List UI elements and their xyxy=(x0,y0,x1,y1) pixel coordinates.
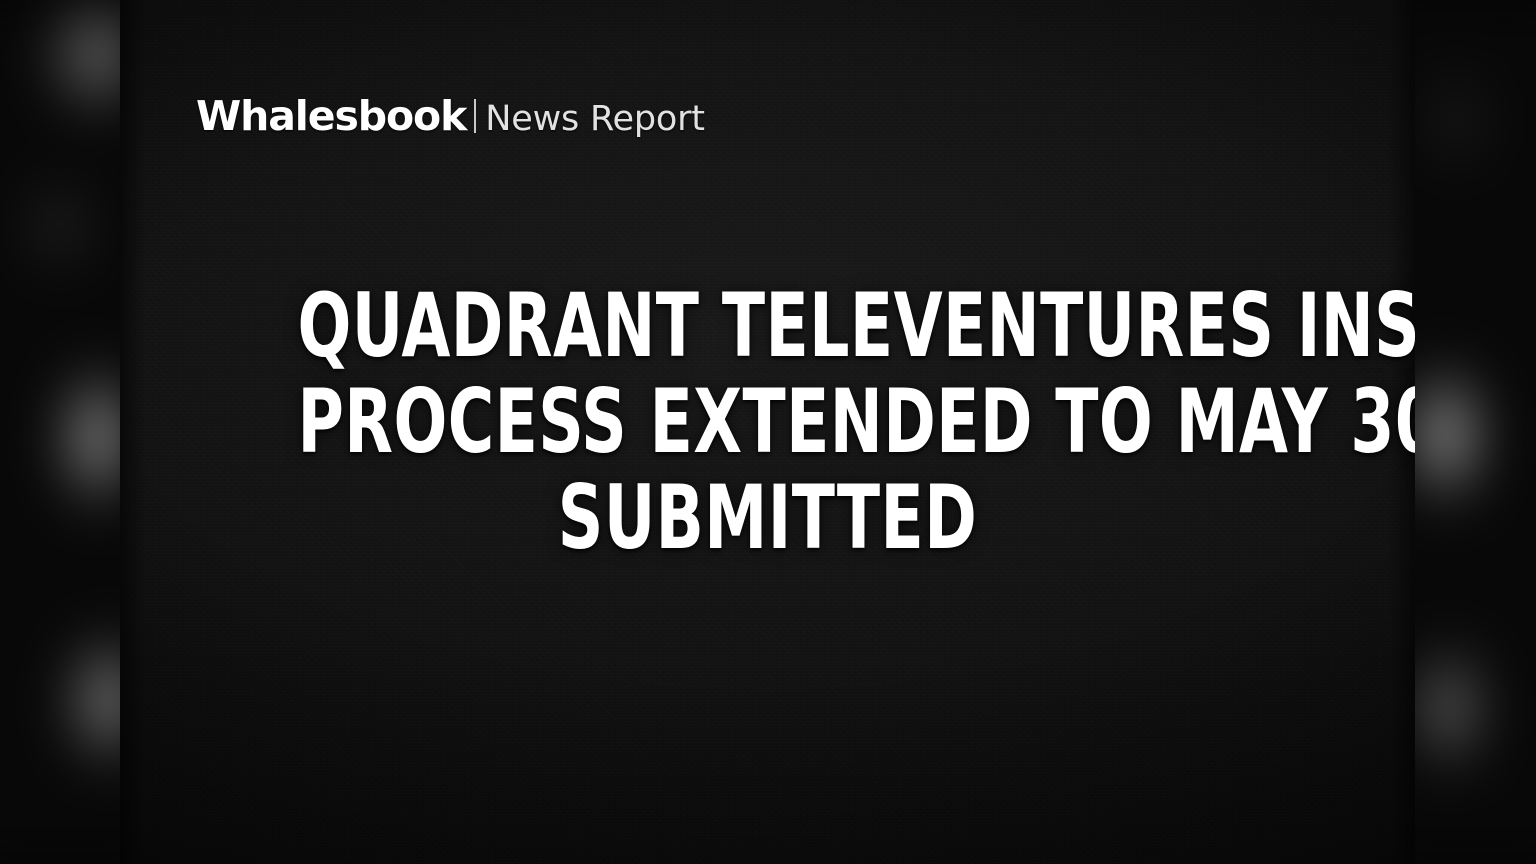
article-panel: Whalesbook News Report QUADRANT TELEVENT… xyxy=(120,0,1415,864)
backdrop-glow-right-top-dim xyxy=(1401,40,1511,200)
headline: QUADRANT TELEVENTURES INSOLVENCY PROCESS… xyxy=(180,278,1355,566)
brand-kicker: News Report xyxy=(485,99,705,139)
news-card: Whalesbook News Report QUADRANT TELEVENT… xyxy=(0,0,1536,864)
brand-lockup: Whalesbook News Report xyxy=(196,92,705,140)
headline-line-2: PROCESS EXTENDED TO MAY 30, 8 PLANS xyxy=(298,374,1238,470)
brand-name: Whalesbook xyxy=(196,92,466,140)
headline-line-3: SUBMITTED xyxy=(298,470,1238,566)
brand-divider xyxy=(474,99,476,133)
headline-line-1: QUADRANT TELEVENTURES INSOLVENCY xyxy=(298,278,1238,374)
panel-edge-shadow-left xyxy=(120,0,146,864)
backdrop-glow-left-upper-dim xyxy=(0,150,120,300)
